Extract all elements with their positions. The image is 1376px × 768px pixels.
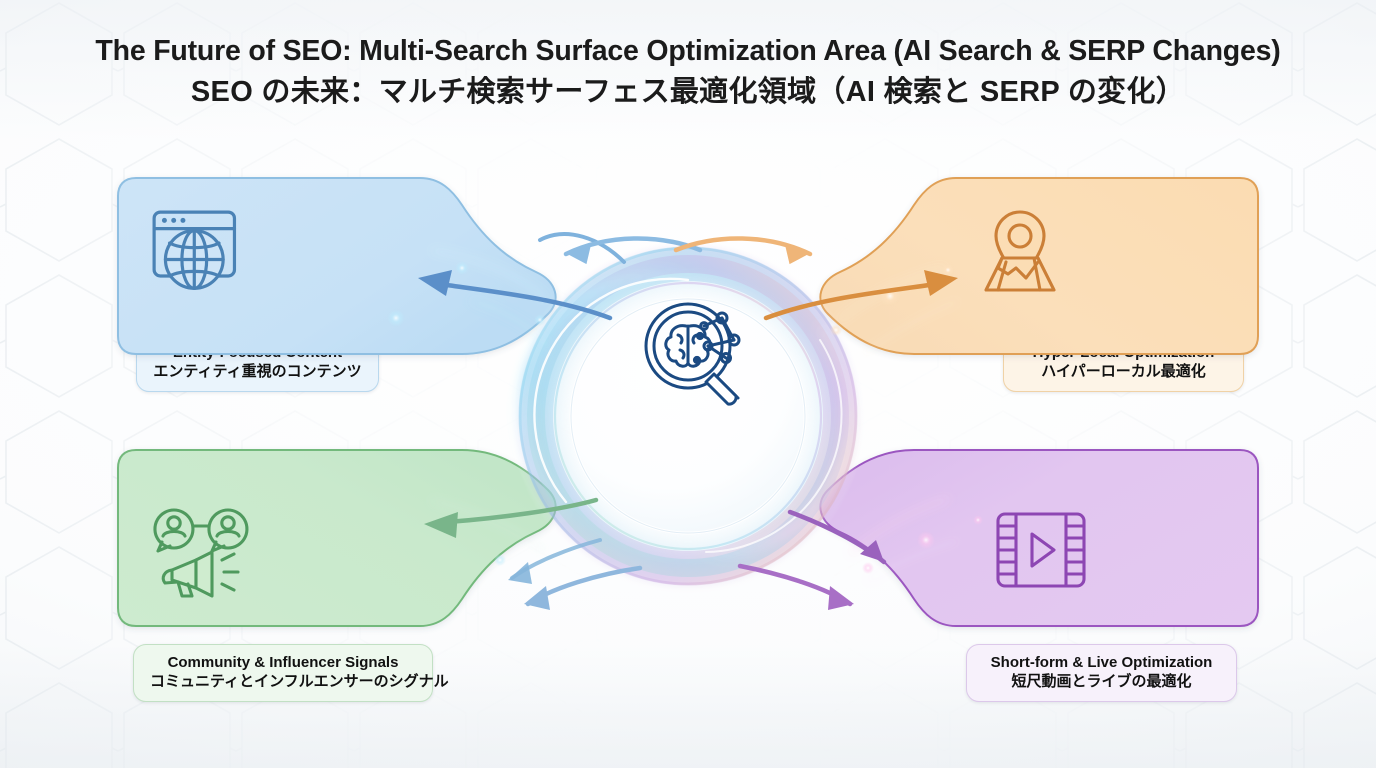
card-shape-social[interactable] [118, 450, 556, 626]
title-japanese: SEO の未来：マルチ検索サーフェス最適化領域（AI 検索と SERP の変化） [0, 75, 1376, 109]
center-hub[interactable] [510, 238, 866, 594]
title-english: The Future of SEO: Multi-Search Surface … [0, 36, 1376, 68]
multi-search-surface-diagram [0, 0, 1376, 768]
slide-title-block: The Future of SEO: Multi-Search Surface … [0, 36, 1376, 109]
slide-canvas: The Future of SEO: Multi-Search Surface … [0, 0, 1376, 768]
